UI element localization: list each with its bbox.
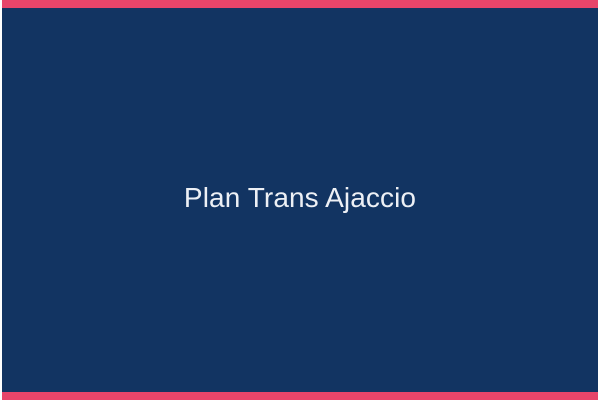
placeholder-background (0, 0, 600, 400)
bottom-accent-bar (0, 392, 600, 400)
top-accent-bar (0, 0, 600, 8)
placeholder-card: Plan Trans Ajaccio (0, 0, 600, 400)
left-edge-gutter (0, 0, 2, 400)
